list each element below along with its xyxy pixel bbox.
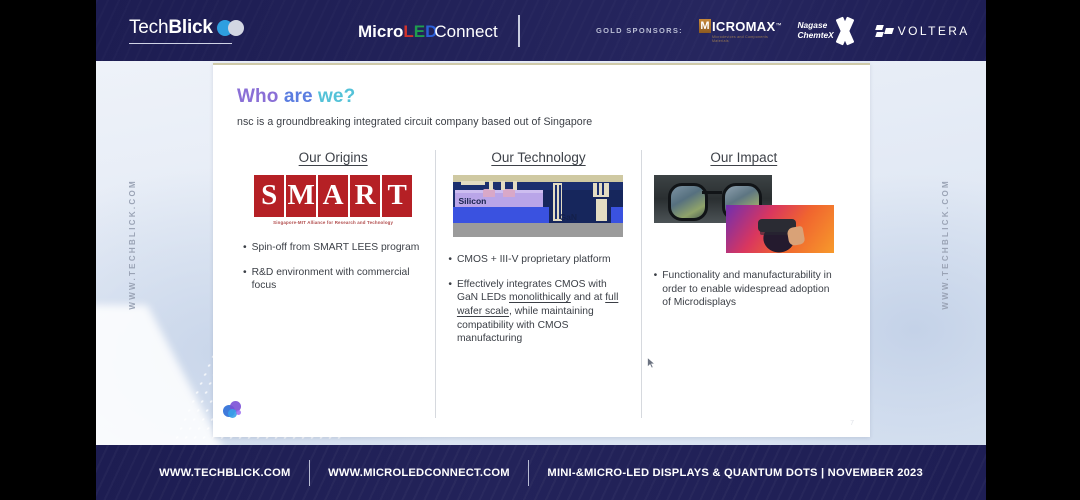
bullets-technology: • CMOS + III-V proprietary platform • Ef…	[448, 253, 628, 346]
footer-link-techblick[interactable]: WWW.TECHBLICK.COM	[159, 467, 290, 479]
bullet-dot-icon: •	[448, 278, 452, 346]
nagase-line2: ChemteX	[797, 31, 833, 40]
bullet-text: R&D environment with commercial focus	[252, 266, 424, 293]
slide-card: Who are we? nsc is a groundbreaking inte…	[213, 63, 870, 437]
column-title-impact: Our Impact	[654, 150, 834, 165]
slide-page-number: 7	[850, 420, 854, 427]
footer-link-microledconnect[interactable]: WWW.MICROLEDCONNECT.COM	[328, 467, 510, 479]
micromax-m-mark: M	[699, 19, 711, 33]
microledconnect-micro: Micro	[358, 22, 403, 41]
microledconnect-l: L	[403, 22, 413, 41]
left-black-rail	[0, 0, 96, 500]
bullet-item: • CMOS + III-V proprietary platform	[448, 253, 628, 267]
bullet-text: Spin-off from SMART LEES program	[252, 241, 420, 255]
bullets-impact: •Functionality and manufacturability in …	[654, 269, 834, 310]
bullet-text: CMOS + III-V proprietary platform	[457, 253, 611, 267]
bullet-dot-icon: •	[243, 266, 247, 293]
slide-title: Who are we?	[237, 87, 846, 108]
sponsor-logo-nagase-chemtex[interactable]: Nagase ChemteX	[797, 18, 859, 44]
sponsor-row: GOLD SPONSORS: M ICROMAX ™ Microdevices …	[596, 0, 986, 61]
cross-section-diagram: Silicon GaN	[453, 175, 623, 237]
techblick-logo-underline	[129, 43, 232, 44]
column-origins: Our Origins S M A R T Singapore-MIT Alli…	[237, 150, 435, 418]
bullets-origins: •Spin-off from SMART LEES program •R&D e…	[243, 241, 423, 293]
column-title-technology: Our Technology	[448, 150, 628, 165]
diagram-label-silicon: Silicon	[458, 196, 486, 206]
voltera-mark-icon	[876, 24, 893, 38]
vr-headset-photo	[726, 205, 834, 253]
slide-stage: WWW.TECHBLICK.COM WWW.TECHBLICK.COM Who …	[96, 61, 986, 445]
bullet-dot-icon: •	[654, 269, 658, 310]
header-bar: TechBlick MicroLEDConnect GOLD SPONSORS:…	[96, 0, 986, 61]
micromax-subtitle: Microdevices and Components Materials	[712, 35, 782, 43]
bullet-item: • Effectively integrates CMOS with GaN L…	[448, 278, 628, 346]
header-divider	[518, 15, 520, 47]
footer-event-title: MINI-&MICRO-LED DISPLAYS & QUANTUM DOTS …	[547, 467, 922, 479]
footer-bar: WWW.TECHBLICK.COM WWW.MICROLEDCONNECT.CO…	[96, 445, 986, 500]
techblick-dots-icon	[217, 20, 244, 36]
bullet-item: •Spin-off from SMART LEES program	[243, 241, 423, 255]
bullet-text: Functionality and manufacturability in o…	[662, 269, 834, 310]
slide-subtitle: nsc is a groundbreaking integrated circu…	[237, 116, 846, 128]
voltera-wordmark: VOLTERA	[898, 24, 970, 38]
bullet-item: •Functionality and manufacturability in …	[654, 269, 834, 310]
microledconnect-e: E	[414, 22, 425, 41]
watermark-right: WWW.TECHBLICK.COM	[941, 179, 950, 310]
column-title-origins: Our Origins	[243, 150, 423, 165]
bullet-text: Effectively integrates CMOS with GaN LED…	[457, 278, 629, 346]
nsc-logo-icon	[223, 401, 243, 421]
microledconnect-connect: Connect	[434, 22, 497, 41]
impact-photos	[654, 175, 834, 253]
techblick-logo-part2: Blick	[168, 17, 212, 38]
column-impact: Our Impact •Funct	[641, 150, 846, 418]
slide-title-word1: Who	[237, 86, 284, 107]
microledconnect-logo[interactable]: MicroLEDConnect	[358, 23, 498, 40]
micromax-wordmark: ICROMAX	[712, 19, 776, 34]
diagram-label-gan: GaN	[559, 212, 576, 222]
micromax-tm-icon: ™	[775, 23, 781, 29]
slide-columns: Our Origins S M A R T Singapore-MIT Alli…	[237, 150, 846, 418]
techblick-logo[interactable]: TechBlick	[129, 18, 244, 37]
bullet-item: •R&D environment with commercial focus	[243, 266, 423, 293]
presentation-screen: TechBlick MicroLEDConnect GOLD SPONSORS:…	[0, 0, 1080, 500]
footer-divider	[309, 460, 311, 486]
smart-letter-m: M	[286, 175, 316, 217]
mouse-cursor-icon	[647, 357, 656, 369]
smart-logo: S M A R T Singapore-MIT Alliance for Res…	[243, 175, 423, 225]
bullet-dot-icon: •	[448, 253, 452, 267]
slide-title-word3: we?	[318, 86, 355, 107]
sponsor-logo-micromax[interactable]: M ICROMAX ™ Microdevices and Components …	[699, 19, 782, 43]
smart-logo-tagline: Singapore-MIT Alliance for Research and …	[273, 220, 393, 225]
watermark-left: WWW.TECHBLICK.COM	[128, 179, 137, 310]
column-technology: Our Technology	[435, 150, 640, 418]
sponsor-logo-voltera[interactable]: VOLTERA	[876, 24, 970, 38]
gold-sponsors-label: GOLD SPONSORS:	[596, 26, 683, 35]
right-black-rail	[986, 0, 1080, 500]
bullet-dot-icon: •	[243, 241, 247, 255]
nagase-x-icon	[830, 18, 860, 44]
smart-letter-s: S	[254, 175, 284, 217]
smart-letter-a: A	[318, 175, 348, 217]
techblick-logo-part1: Tech	[129, 17, 168, 38]
smart-letter-t: T	[382, 175, 412, 217]
footer-divider	[528, 460, 530, 486]
smart-letter-r: R	[350, 175, 380, 217]
slide-title-word2: are	[284, 86, 318, 107]
